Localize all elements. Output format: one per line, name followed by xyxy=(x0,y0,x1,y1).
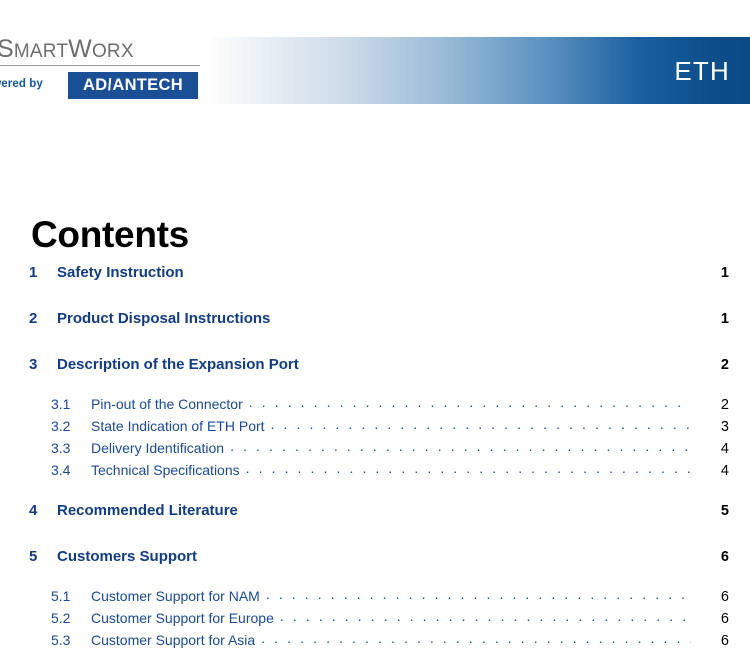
toc-entry-title: Description of the Expansion Port xyxy=(57,356,299,373)
toc-dot-leader xyxy=(280,609,691,623)
toc-entry-page-number: 2 xyxy=(699,397,729,413)
advantech-logo: AD\ANTECH xyxy=(68,72,198,99)
toc-dot-leader xyxy=(271,417,691,431)
toc-entry-page-number: 5 xyxy=(699,503,729,519)
toc-entry-title: Recommended Literature xyxy=(57,502,238,519)
toc-entry-page-number: 6 xyxy=(699,549,729,565)
toc-entry-title: Customer Support for Asia xyxy=(91,632,261,648)
toc-entry-title: Delivery Identification xyxy=(91,440,230,456)
toc-entry-5[interactable]: 5Customers Support6 xyxy=(0,548,750,575)
toc-entry-3[interactable]: 3Description of the Expansion Port2 xyxy=(0,356,750,383)
toc-entry-number: 1 xyxy=(29,264,57,281)
toc-entry-1[interactable]: 1Safety Instruction1 xyxy=(0,264,750,291)
toc-dot-leader xyxy=(246,461,691,475)
toc-entry-page-number: 6 xyxy=(699,611,729,627)
table-of-contents: 1Safety Instruction12Product Disposal In… xyxy=(0,264,750,653)
toc-entry-number: 3 xyxy=(29,356,57,373)
page-title: Contents xyxy=(31,213,189,257)
toc-entry-title: Customers Support xyxy=(57,548,197,565)
toc-entry-page-number: 3 xyxy=(699,419,729,435)
toc-entry-3-4[interactable]: 3.4Technical Specifications4 xyxy=(0,461,750,483)
toc-entry-page-number: 2 xyxy=(699,357,729,373)
smartworx-text: SMARTWORX xyxy=(0,35,134,63)
toc-entry-number: 3.1 xyxy=(51,396,91,412)
smartworx-mart: MART xyxy=(14,41,68,62)
toc-dot-leader xyxy=(249,395,691,409)
toc-entry-title: Customer Support for Europe xyxy=(91,610,280,626)
toc-entry-page-number: 1 xyxy=(699,311,729,327)
advantech-antech: ANTECH xyxy=(112,76,183,94)
toc-entry-number: 3.3 xyxy=(51,440,91,456)
header-gradient-band: ETH xyxy=(212,37,750,104)
toc-entry-3-2[interactable]: 3.2State Indication of ETH Port3 xyxy=(0,417,750,439)
toc-entry-5-1[interactable]: 5.1Customer Support for NAM6 xyxy=(0,587,750,609)
toc-entry-number: 4 xyxy=(29,502,57,519)
toc-entry-2[interactable]: 2Product Disposal Instructions1 xyxy=(0,310,750,337)
toc-entry-5-2[interactable]: 5.2Customer Support for Europe6 xyxy=(0,609,750,631)
toc-entry-4[interactable]: 4Recommended Literature5 xyxy=(0,502,750,529)
brand-divider-rule xyxy=(0,65,200,66)
toc-entry-number: 2 xyxy=(29,310,57,327)
toc-entry-number: 5.3 xyxy=(51,632,91,648)
toc-entry-title: Product Disposal Instructions xyxy=(57,310,270,327)
toc-dot-leader xyxy=(261,631,691,645)
toc-entry-title: State Indication of ETH Port xyxy=(91,418,271,434)
toc-entry-number: 3.4 xyxy=(51,462,91,478)
advantech-ad: AD xyxy=(83,76,107,94)
toc-dot-leader xyxy=(266,587,691,601)
page-header: BSMARTWORX powered by AD\ANTECH ETH xyxy=(0,0,750,115)
toc-entry-number: 5.2 xyxy=(51,610,91,626)
smartworx-s: S xyxy=(0,35,14,63)
smartworx-w: W xyxy=(68,35,92,63)
toc-entry-number: 3.2 xyxy=(51,418,91,434)
toc-entry-page-number: 4 xyxy=(699,463,729,479)
header-product-title: ETH xyxy=(674,56,730,86)
toc-entry-page-number: 4 xyxy=(699,441,729,457)
smartworx-orx: ORX xyxy=(92,41,134,62)
toc-entry-3-1[interactable]: 3.1Pin-out of the Connector2 xyxy=(0,395,750,417)
toc-entry-page-number: 1 xyxy=(699,265,729,281)
toc-entry-title: Pin-out of the Connector xyxy=(91,396,249,412)
powered-by-label: powered by xyxy=(0,78,43,90)
toc-entry-title: Customer Support for NAM xyxy=(91,588,266,604)
toc-entry-number: 5.1 xyxy=(51,588,91,604)
toc-entry-3-3[interactable]: 3.3Delivery Identification4 xyxy=(0,439,750,461)
brand-logo-block: BSMARTWORX powered by AD\ANTECH xyxy=(0,33,200,100)
toc-entry-number: 5 xyxy=(29,548,57,565)
toc-dot-leader xyxy=(230,439,691,453)
powered-by-row: powered by AD\ANTECH xyxy=(0,72,200,100)
toc-entry-page-number: 6 xyxy=(699,633,729,649)
toc-entry-title: Safety Instruction xyxy=(57,264,184,281)
toc-entry-page-number: 6 xyxy=(699,589,729,605)
bb-smartworx-wordmark: BSMARTWORX xyxy=(0,33,200,63)
toc-entry-title: Technical Specifications xyxy=(91,462,246,478)
